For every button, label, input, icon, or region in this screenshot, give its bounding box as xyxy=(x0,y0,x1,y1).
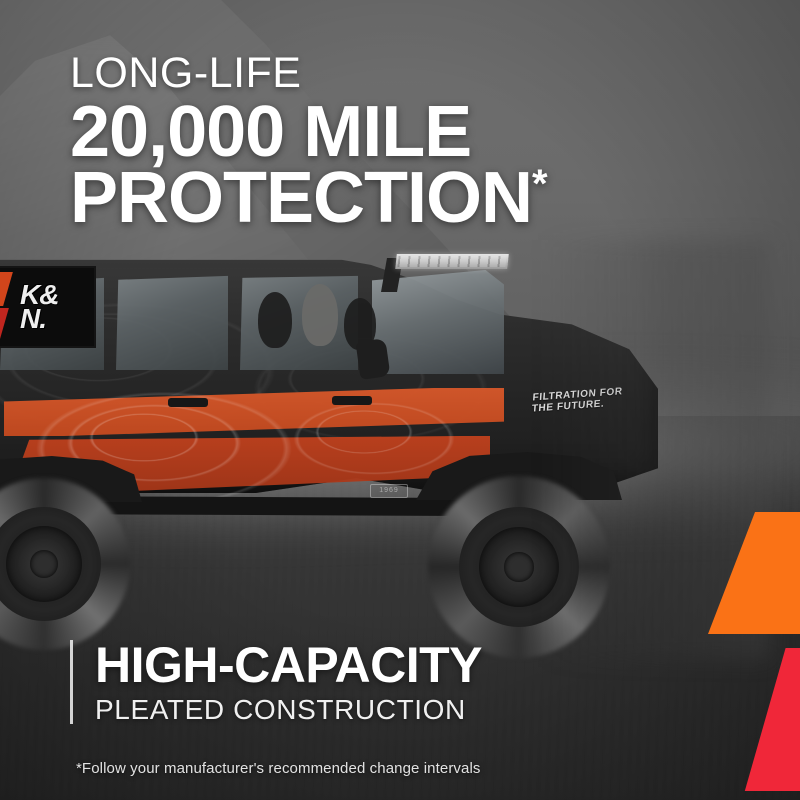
footnote-text: *Follow your manufacturer's recommended … xyxy=(76,760,480,777)
occupant-passenger xyxy=(302,284,338,346)
vehicle-suv: FILTRATION FOR THE FUTURE. 1969 xyxy=(0,240,770,660)
subhead-title: HIGH-CAPACITY xyxy=(95,640,482,690)
kn-logo-bar-red xyxy=(0,308,9,342)
subhead-subtitle: PLEATED CONSTRUCTION xyxy=(95,696,482,724)
occupant-rear xyxy=(258,292,292,348)
headline-eyebrow: LONG-LIFE xyxy=(70,52,710,95)
subhead-block: HIGH-CAPACITY PLEATED CONSTRUCTION xyxy=(70,640,482,724)
subhead-text-group: HIGH-CAPACITY PLEATED CONSTRUCTION xyxy=(95,640,482,724)
headline-line2: PROTECTION* xyxy=(70,165,710,231)
side-mirror xyxy=(356,338,391,380)
kn-logo: K& N. xyxy=(0,266,96,348)
subhead-vertical-rule xyxy=(70,640,73,724)
headline-line2-text: PROTECTION xyxy=(70,158,532,238)
hub-front xyxy=(504,552,533,581)
promotional-ad-banner: FILTRATION FOR THE FUTURE. 1969 K& N. xyxy=(0,0,800,800)
roof-light-bar xyxy=(395,254,509,269)
door-handle-rear xyxy=(168,398,208,407)
headline-asterisk: * xyxy=(532,162,547,206)
window-rear-door xyxy=(116,274,228,370)
headline-block: LONG-LIFE 20,000 MILE PROTECTION* xyxy=(70,52,710,231)
kn-logo-text-line2: N. xyxy=(20,307,58,331)
wheel-front xyxy=(428,476,610,658)
door-handle-front xyxy=(332,396,372,405)
hub-rear xyxy=(30,550,58,578)
headline-line1: 20,000 MILE xyxy=(70,99,710,165)
kn-logo-bar-orange xyxy=(0,272,13,306)
door-badge: 1969 xyxy=(370,484,408,498)
kn-logo-text: K& N. xyxy=(20,283,58,331)
kn-logo-bars xyxy=(0,268,18,346)
